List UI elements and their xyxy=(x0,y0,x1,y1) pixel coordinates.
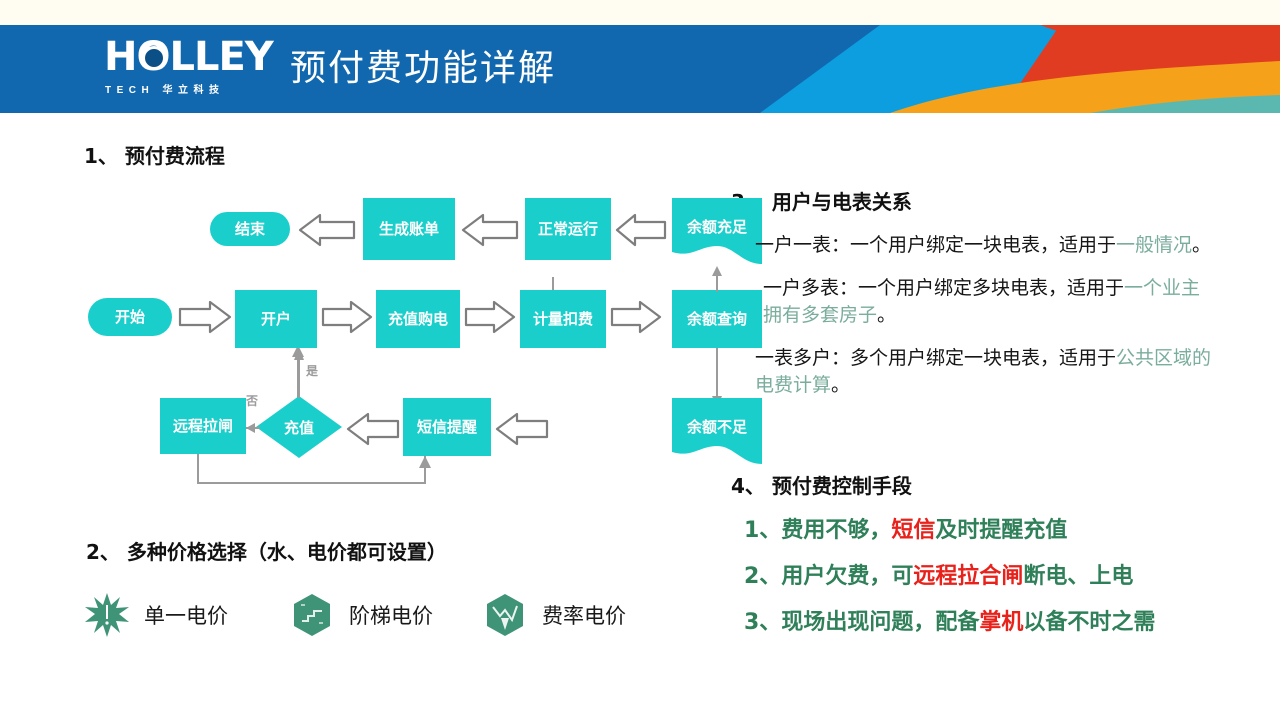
slide-header: HOLLEY TECH 华立科技 预付费功能详解 xyxy=(0,25,1280,113)
arrow-left-run-to-bill xyxy=(461,213,519,247)
flow-node-balance-insufficient-label: 余额不足 xyxy=(672,419,762,436)
section-heading-4: 4、 预付费控制手段 xyxy=(731,470,912,499)
flow-node-normal-run: 正常运行 xyxy=(525,198,611,260)
flow-node-sms-remind: 短信提醒 xyxy=(403,398,491,456)
control-item-number: 2、 xyxy=(744,564,781,589)
arrow-left-insufficient-to-sms xyxy=(495,412,549,446)
price-option-rate[interactable]: 费率电价 xyxy=(482,592,626,638)
control-text-pre: 费用不够， xyxy=(781,518,891,543)
flow-label-yes: 是 xyxy=(306,362,318,379)
relation-text-pre: 一户多表：一个用户绑定多块电表，适用于 xyxy=(763,277,1124,299)
arrow-left-bill-to-end xyxy=(298,213,356,247)
flow-node-normal-run-label: 正常运行 xyxy=(538,221,598,238)
relation-text-post: 。 xyxy=(1192,234,1211,256)
logo-wordmark: HOLLEY xyxy=(104,37,273,77)
control-text-emphasis: 短信 xyxy=(891,518,935,543)
arrow-up-query-to-sufficient xyxy=(705,264,729,292)
relation-text-pre: 一表多户：多个用户绑定一块电表，适用于 xyxy=(755,347,1116,369)
flow-node-balance-query: 余额查询 xyxy=(672,290,762,348)
flow-node-generate-bill: 生成账单 xyxy=(363,198,455,260)
control-item: 3、现场出现问题，配备掌机以备不时之需 xyxy=(744,610,1224,636)
control-text-post: 断电、上电 xyxy=(1023,564,1133,589)
price-options-row: 单一电价 阶梯电价 费率电价 xyxy=(84,592,704,650)
relation-item: 一户一表：一个用户绑定一块电表，适用于一般情况。 xyxy=(755,232,1215,259)
flow-node-balance-query-label: 余额查询 xyxy=(687,311,747,328)
flow-node-sms-remind-label: 短信提醒 xyxy=(417,419,477,436)
flow-node-recharge-buy-label: 充值购电 xyxy=(388,311,448,328)
control-item: 1、费用不够，短信及时提醒充值 xyxy=(744,518,1224,544)
control-item-number: 3、 xyxy=(744,610,781,635)
price-option-tiered-label: 阶梯电价 xyxy=(349,600,433,630)
arrow-right-start-to-open xyxy=(178,300,232,334)
flow-node-end-label: 结束 xyxy=(235,221,265,238)
control-item-number: 1、 xyxy=(744,518,781,543)
arrow-left-sufficient-to-run xyxy=(615,213,667,247)
section-heading-2: 2、 多种价格选择（水、电价都可设置） xyxy=(86,536,447,565)
price-option-rate-label: 费率电价 xyxy=(542,600,626,630)
page-title: 预付费功能详解 xyxy=(290,39,556,91)
flow-node-open-account: 开户 xyxy=(235,290,317,348)
flow-node-balance-sufficient-label: 余额充足 xyxy=(672,219,762,236)
hexagon-rate-icon xyxy=(482,592,528,638)
flow-node-balance-insufficient: 余额不足 xyxy=(672,398,762,464)
flow-node-remote-trip: 远程拉闸 xyxy=(160,398,246,454)
control-text-emphasis: 掌机 xyxy=(979,610,1023,635)
user-meter-relations-list: 一户一表：一个用户绑定一块电表，适用于一般情况。 一户多表：一个用户绑定多块电表… xyxy=(755,232,1215,415)
flow-node-recharge-decision: 充值 xyxy=(256,396,342,458)
price-option-tiered[interactable]: 阶梯电价 xyxy=(289,592,433,638)
hexagon-steps-icon xyxy=(289,592,335,638)
flow-node-remote-trip-label: 远程拉闸 xyxy=(173,418,233,435)
relation-text-pre: 一户一表：一个用户绑定一块电表，适用于 xyxy=(755,234,1116,256)
control-item: 2、用户欠费，可远程拉合闸断电、上电 xyxy=(744,564,1224,590)
flow-node-balance-sufficient: 余额充足 xyxy=(672,198,762,264)
starburst-icon xyxy=(84,592,130,638)
flow-node-metering-deduct-label: 计量扣费 xyxy=(533,311,593,328)
flow-node-start-label: 开始 xyxy=(115,309,145,326)
relation-text-post: 。 xyxy=(877,304,896,326)
top-strip xyxy=(0,0,1280,25)
prepayment-flowchart: 结束 生成账单 正常运行 余额充足 开始 xyxy=(80,180,700,500)
relation-text-post: 。 xyxy=(831,374,850,396)
flow-node-generate-bill-label: 生成账单 xyxy=(379,221,439,238)
logo-subtext: TECH 华立科技 xyxy=(105,81,225,96)
arrow-up-yes-branch xyxy=(291,348,307,398)
arrow-right-metering-to-query xyxy=(610,300,662,334)
slide-root: HOLLEY TECH 华立科技 预付费功能详解 1、 预付费流程 2、 多种价… xyxy=(0,0,1280,720)
logo-o-ring-icon xyxy=(142,46,166,70)
arrow-right-open-to-recharge xyxy=(321,300,373,334)
arrow-right-recharge-to-metering xyxy=(464,300,516,334)
flow-node-metering-deduct: 计量扣费 xyxy=(520,290,606,348)
price-option-single[interactable]: 单一电价 xyxy=(84,592,228,638)
arrow-left-sms-to-recharge xyxy=(346,412,400,446)
control-text-post: 及时提醒充值 xyxy=(935,518,1067,543)
section-heading-1: 1、 预付费流程 xyxy=(84,140,225,169)
relation-item: 一表多户：多个用户绑定一块电表，适用于公共区域的电费计算。 xyxy=(755,345,1215,399)
relation-text-highlight: 一般情况 xyxy=(1116,234,1192,256)
relation-item: 一户多表：一个用户绑定多块电表，适用于一个业主拥有多套房子。 xyxy=(755,275,1215,329)
control-means-list: 1、费用不够，短信及时提醒充值 2、用户欠费，可远程拉合闸断电、上电 3、现场出… xyxy=(744,518,1224,656)
control-text-pre: 用户欠费，可 xyxy=(781,564,913,589)
holley-logo: HOLLEY TECH 华立科技 xyxy=(104,37,264,99)
flow-node-open-account-label: 开户 xyxy=(261,311,291,328)
control-text-pre: 现场出现问题，配备 xyxy=(781,610,979,635)
flow-node-start: 开始 xyxy=(88,298,172,336)
price-option-single-label: 单一电价 xyxy=(144,600,228,630)
control-text-post: 以备不时之需 xyxy=(1023,610,1155,635)
control-text-emphasis: 远程拉合闸 xyxy=(913,564,1023,589)
flow-node-recharge-buy: 充值购电 xyxy=(376,290,460,348)
flow-node-end: 结束 xyxy=(210,212,290,246)
flow-node-recharge-label: 充值 xyxy=(256,396,342,458)
